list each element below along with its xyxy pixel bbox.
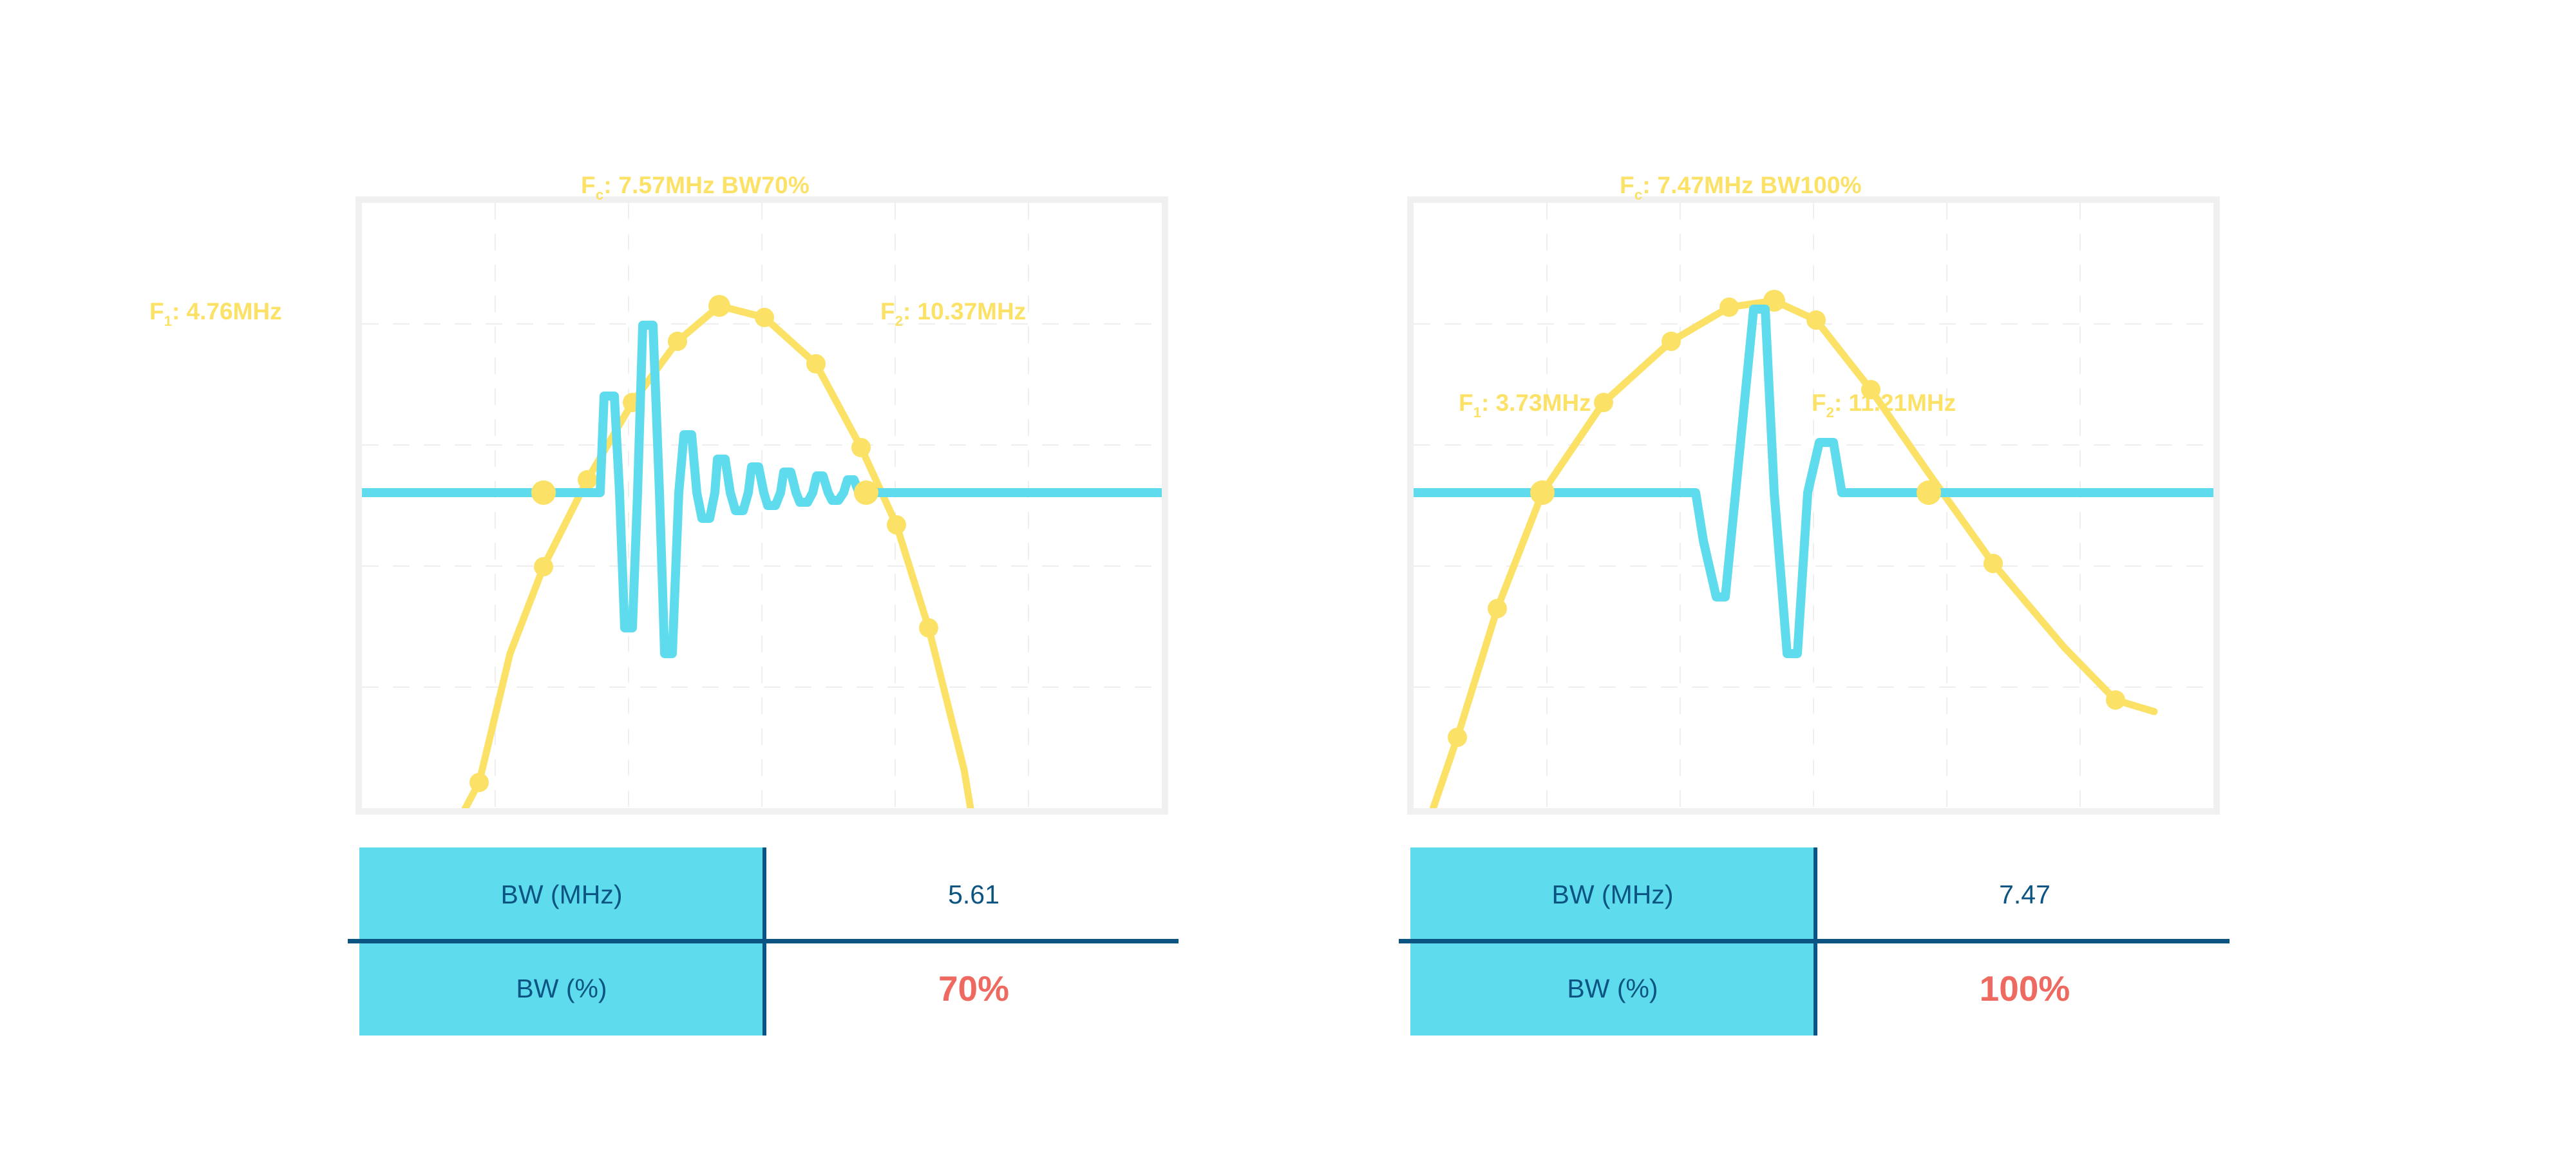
table-col-divider-left bbox=[762, 847, 766, 1036]
f2-label-left: F2: 10.37MHz bbox=[880, 298, 1026, 330]
f2-subscript: 2 bbox=[895, 313, 903, 329]
fc-prefix: F bbox=[581, 172, 596, 198]
panel-right: Fc: 7.47MHz BW100% F1: 3.73MHz F2: 11.21… bbox=[1288, 0, 2576, 1154]
f2-label-right: F2: 11.21MHz bbox=[1812, 390, 1956, 421]
chart-right-canvas bbox=[1414, 203, 2213, 808]
spectrum-markers-left bbox=[469, 295, 938, 792]
f1-prefix: F bbox=[1459, 390, 1473, 416]
bw-pct-value-left: 70% bbox=[764, 941, 1184, 1036]
fc-subscript: c bbox=[1634, 187, 1643, 203]
spectrum-curve-right bbox=[1420, 301, 2154, 808]
chart-left-canvas bbox=[362, 203, 1162, 808]
f1-prefix: F bbox=[149, 298, 164, 325]
bw-pct-key-right: BW (%) bbox=[1410, 941, 1815, 1036]
gridlines-left bbox=[362, 203, 1162, 808]
f1-rest: : 4.76MHz bbox=[172, 298, 282, 325]
table-row: BW (MHz) 7.47 bbox=[1410, 847, 2235, 941]
table-col-divider-right bbox=[1814, 847, 1817, 1036]
bw-mhz-value-left: 5.61 bbox=[764, 847, 1184, 941]
f2-prefix: F bbox=[1812, 390, 1826, 416]
table-row: BW (%) 70% bbox=[359, 941, 1184, 1036]
center-frequency-label-left: Fc: 7.57MHz BW70% bbox=[581, 172, 810, 203]
table-row: BW (MHz) 5.61 bbox=[359, 847, 1184, 941]
spectrum-curve-left bbox=[438, 306, 977, 808]
spectrum-markers-right bbox=[1448, 290, 2125, 747]
gridlines-right bbox=[1414, 203, 2213, 808]
bw-mhz-key-left: BW (MHz) bbox=[359, 847, 764, 941]
bw-mhz-value-right: 7.47 bbox=[1815, 847, 2235, 941]
f1-rest: : 3.73MHz bbox=[1481, 390, 1591, 416]
f1-label-left: F1: 4.76MHz bbox=[149, 298, 282, 330]
panel-left: Fc: 7.57MHz BW70% F1: 4.76MHz F2: 10.37M… bbox=[0, 0, 1288, 1154]
f1-subscript: 1 bbox=[164, 313, 172, 329]
bw-mhz-key-right: BW (MHz) bbox=[1410, 847, 1815, 941]
f2-rest: : 11.21MHz bbox=[1834, 390, 1956, 416]
fc-rest: : 7.47MHz BW100% bbox=[1642, 172, 1861, 198]
bw-pct-value-right: 100% bbox=[1815, 941, 2235, 1036]
center-frequency-label-right: Fc: 7.47MHz BW100% bbox=[1620, 172, 1862, 203]
table-row: BW (%) 100% bbox=[1410, 941, 2235, 1036]
f2-rest: : 10.37MHz bbox=[903, 298, 1026, 325]
f1-subscript: 1 bbox=[1473, 404, 1481, 421]
f2-prefix: F bbox=[880, 298, 895, 325]
pulse-waveform-left bbox=[362, 325, 1162, 654]
bw-table-left: BW (MHz) 5.61 BW (%) 70% bbox=[359, 847, 1184, 1036]
f1-label-right: F1: 3.73MHz bbox=[1459, 390, 1591, 421]
chart-right: Fc: 7.47MHz BW100% F1: 3.73MHz F2: 11.21… bbox=[1407, 196, 2220, 815]
f2-subscript: 2 bbox=[1826, 404, 1834, 421]
bw-pct-key-left: BW (%) bbox=[359, 941, 764, 1036]
fc-rest: : 7.57MHz BW70% bbox=[603, 172, 810, 198]
chart-left: Fc: 7.57MHz BW70% F1: 4.76MHz F2: 10.37M… bbox=[355, 196, 1168, 815]
fc-prefix: F bbox=[1620, 172, 1634, 198]
fc-subscript: c bbox=[596, 187, 604, 203]
bw-table-right: BW (MHz) 7.47 BW (%) 100% bbox=[1410, 847, 2235, 1036]
